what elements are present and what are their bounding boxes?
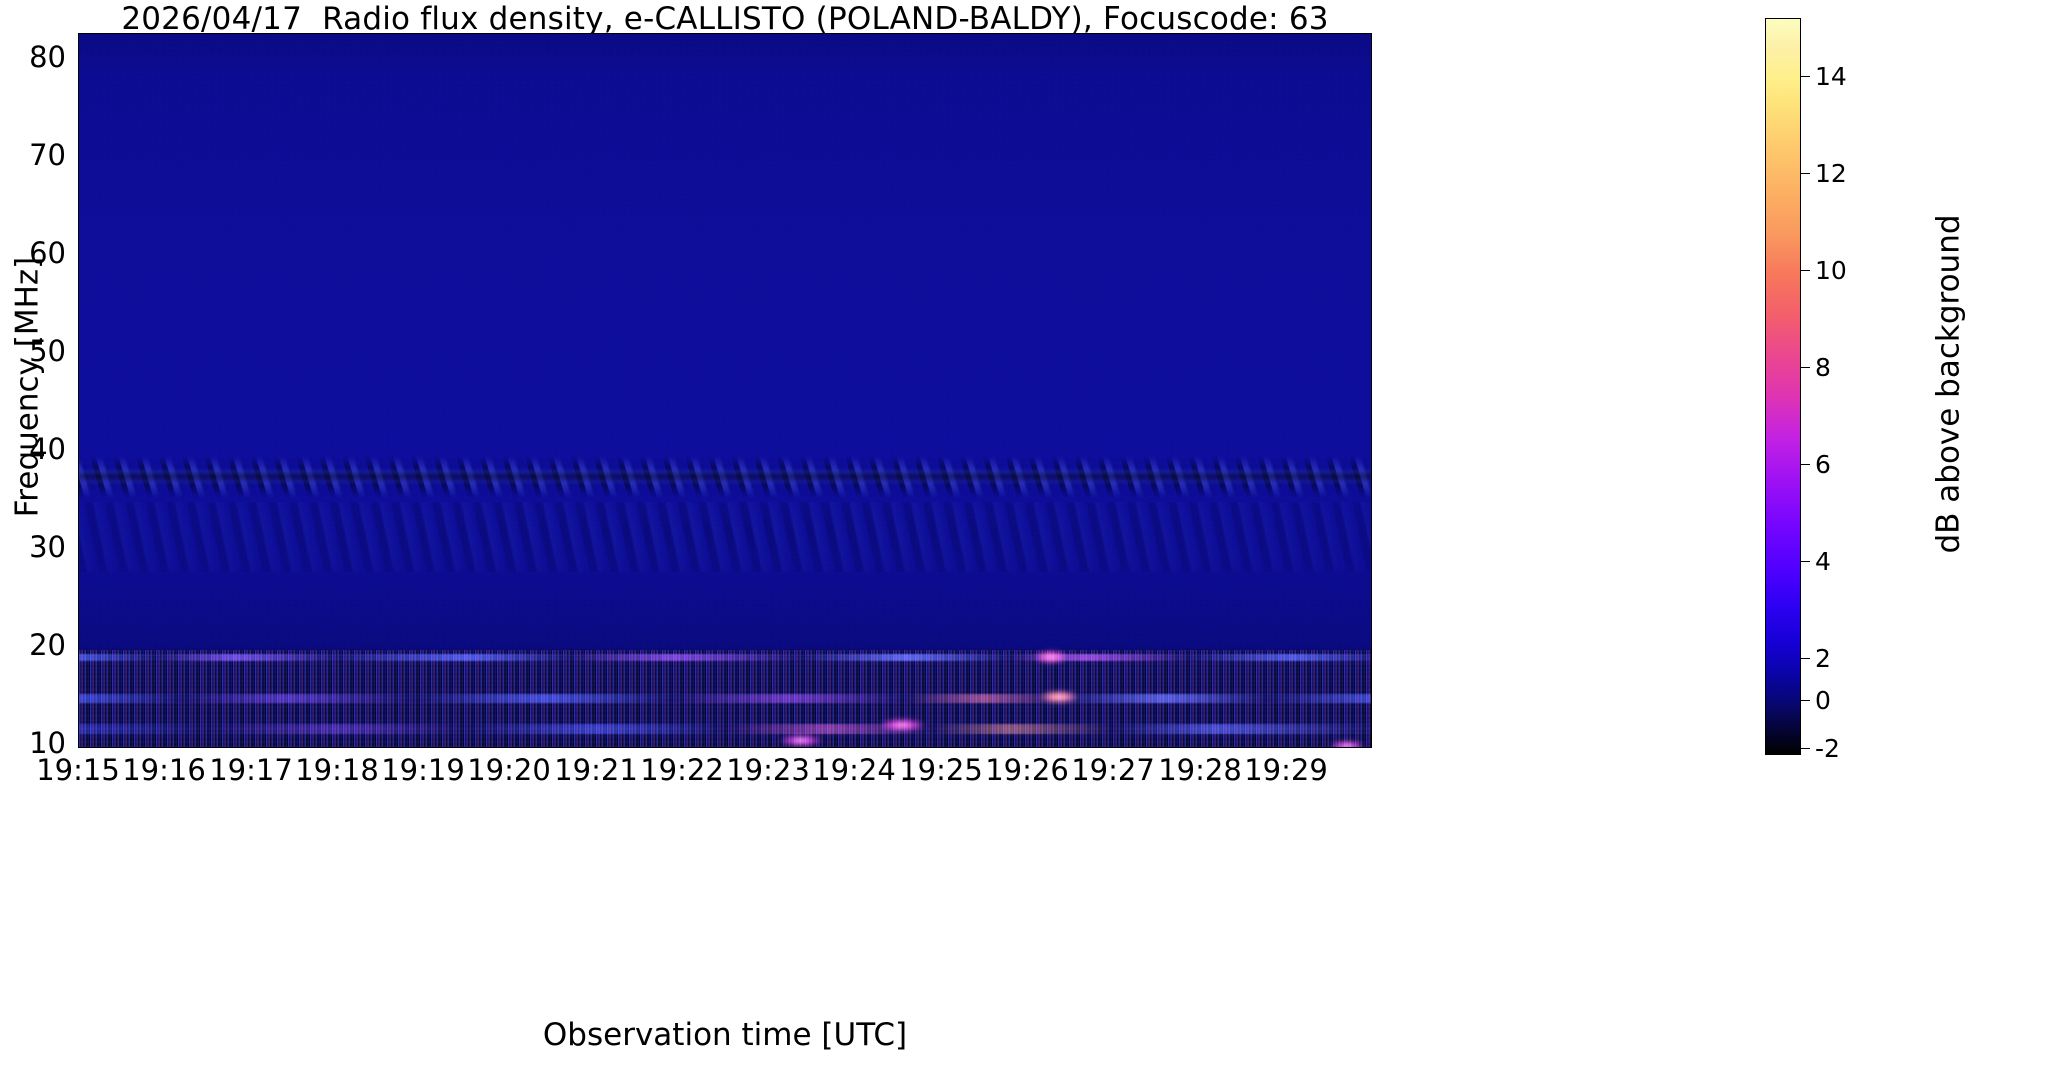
colorbar-label-8: 8 [1815, 355, 1831, 380]
y-axis-label: Frequency [MHz] [11, 30, 45, 745]
xtick-1929 [1287, 747, 1288, 748]
burst-1924-13mhz [779, 734, 823, 747]
colorbar[interactable] [1765, 18, 1801, 755]
xtick-label-1919: 19:19 [375, 756, 471, 785]
colorbar-label-4: 4 [1815, 549, 1831, 574]
xtick-label-1927: 19:27 [1065, 756, 1161, 785]
spectrogram-figure: 2026/04/17 Radio flux density, e-CALLIST… [0, 0, 2047, 1067]
colorbar-tick-12 [1801, 173, 1810, 174]
xtick-label-1917: 19:17 [203, 756, 299, 785]
xtick-label-1916: 19:16 [116, 756, 212, 785]
xtick-1922 [683, 747, 684, 748]
colorbar-label-12: 12 [1815, 161, 1847, 186]
xtick-1916 [165, 747, 166, 748]
colorbar-tick-6 [1801, 464, 1810, 465]
colorbar-tick-4 [1801, 561, 1810, 562]
xtick-label-1918: 19:18 [289, 756, 385, 785]
xtick-1927 [1114, 747, 1115, 748]
colorbar-label-2: 2 [1815, 646, 1831, 671]
rfi-line-17mhz [79, 694, 1371, 703]
burst-1925-14mhz [879, 718, 925, 732]
colorbar-tick-2 [1801, 658, 1810, 659]
colorbar-label-6: 6 [1815, 452, 1831, 477]
xtick-label-1923: 19:23 [720, 756, 816, 785]
xtick-1923 [769, 747, 770, 748]
burst-1929-12mhz [1329, 740, 1365, 748]
colorbar-tick-10 [1801, 270, 1810, 271]
ytick-70 [78, 156, 79, 157]
xtick-label-1926: 19:26 [979, 756, 1075, 785]
ytick-50 [78, 352, 79, 353]
xtick-label-1924: 19:24 [806, 756, 902, 785]
xtick-label-1921: 19:21 [548, 756, 644, 785]
burst-1926-20mhz [1034, 650, 1068, 664]
colorbar-label-14: 14 [1815, 64, 1847, 89]
ytick-30 [78, 548, 79, 549]
xtick-1921 [597, 747, 598, 748]
xtick-1918 [338, 747, 339, 748]
page-title: 2026/04/17 Radio flux density, e-CALLIST… [78, 2, 1372, 36]
colorbar-tick-0 [1801, 700, 1810, 701]
xtick-label-1929: 19:29 [1238, 756, 1334, 785]
colorbar-label-10: 10 [1815, 258, 1847, 283]
ytick-40 [78, 450, 79, 451]
xtick-label-1915: 19:15 [30, 756, 126, 785]
spectrogram-plot-area[interactable] [78, 33, 1372, 748]
xtick-1926 [1028, 747, 1029, 748]
xtick-1925 [942, 747, 943, 748]
colorbar-tick-14 [1801, 76, 1810, 77]
noise-speckle-texture [79, 34, 1371, 747]
colorbar-tick-8 [1801, 367, 1810, 368]
xtick-1915 [79, 747, 80, 748]
xtick-1917 [252, 747, 253, 748]
xtick-1919 [424, 747, 425, 748]
ytick-80 [78, 58, 79, 59]
interference-band-31mhz [79, 502, 1371, 572]
colorbar-label-minus2: -2 [1815, 736, 1840, 761]
interference-band-36mhz [79, 456, 1371, 498]
xtick-1920 [510, 747, 511, 748]
xtick-label-1925: 19:25 [893, 756, 989, 785]
ytick-20 [78, 646, 79, 647]
burst-1926-17mhz [1039, 690, 1079, 704]
spectrogram-background [79, 34, 1371, 747]
rfi-line-20mhz [79, 654, 1371, 661]
noise-vertical-texture [79, 34, 1371, 747]
colorbar-axis-label: dB above background [1932, 16, 1966, 753]
rfi-line-14mhz [79, 724, 1371, 734]
xtick-label-1922: 19:22 [634, 756, 730, 785]
xtick-label-1920: 19:20 [461, 756, 557, 785]
ytick-60 [78, 254, 79, 255]
noise-horizontal-texture [79, 34, 1371, 747]
xtick-1928 [1201, 747, 1202, 748]
colorbar-label-0: 0 [1815, 688, 1831, 713]
xtick-label-1928: 19:28 [1152, 756, 1248, 785]
colorbar-gradient [1766, 19, 1800, 754]
colorbar-tick-minus2 [1801, 748, 1810, 749]
xtick-1924 [855, 747, 856, 748]
x-axis-label: Observation time [UTC] [78, 1018, 1372, 1052]
ytick-10 [78, 744, 79, 745]
